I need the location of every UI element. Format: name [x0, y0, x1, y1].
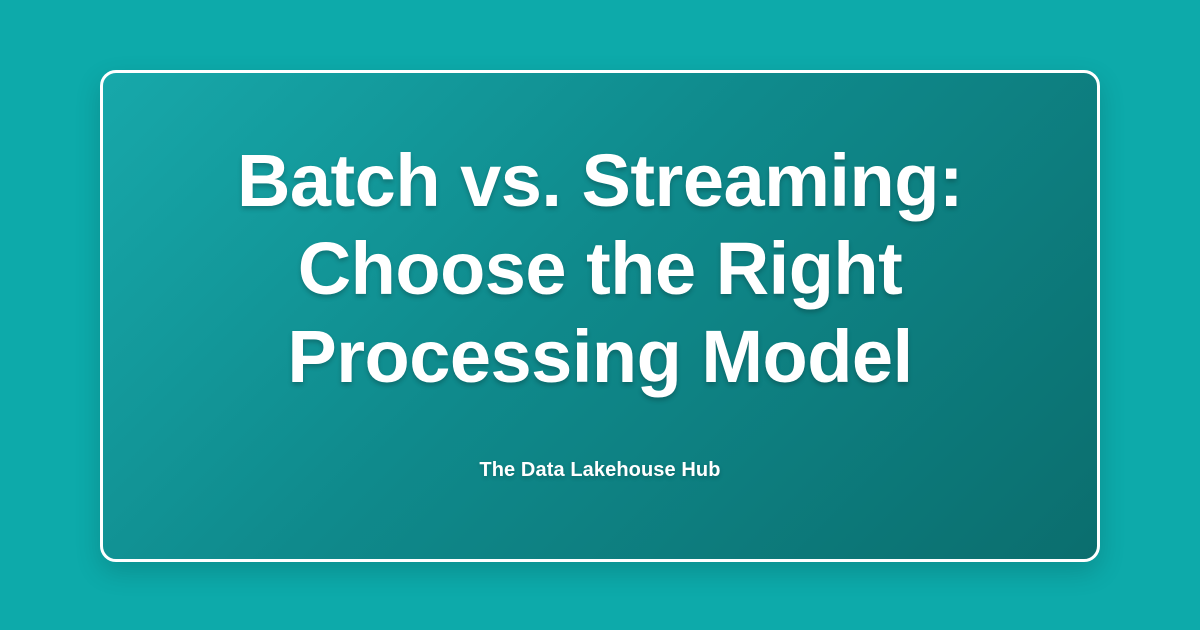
hero-card: Batch vs. Streaming: Choose the Right Pr…	[100, 70, 1100, 562]
hero-content: Batch vs. Streaming: Choose the Right Pr…	[103, 137, 1097, 483]
og-image-canvas: Batch vs. Streaming: Choose the Right Pr…	[0, 0, 1200, 630]
site-name-subtitle: The Data Lakehouse Hub	[479, 457, 720, 483]
page-title: Batch vs. Streaming: Choose the Right Pr…	[237, 137, 963, 401]
